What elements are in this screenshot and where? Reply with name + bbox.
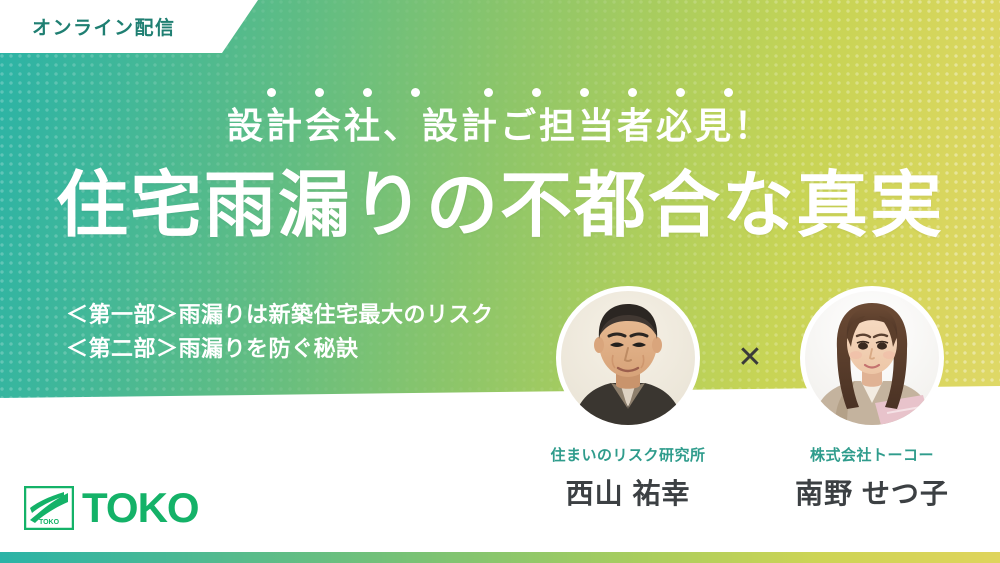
emphasis-dot [532,88,541,97]
portrait-woman-illustration [805,291,939,425]
avatar [800,286,944,430]
speaker-left-org: 住まいのリスク研究所 [550,444,705,465]
footer-gradient-bar [0,552,1000,563]
emphasis-dot [628,88,637,97]
speaker-left-name: 西山 祐幸 [566,472,691,512]
speaker-right-name: 南野 せつ子 [795,472,949,512]
toko-logo-mark-icon: TOKO [24,486,74,530]
session-line-1: ＜第一部＞雨漏りは新築住宅最大のリスク [66,298,494,332]
emphasis-dot [411,88,420,97]
online-broadcast-badge-label: オンライン配信 [0,13,176,40]
avatar-photo-woman [805,291,939,425]
portrait-man-illustration [561,291,695,425]
emphasis-dot [580,88,589,97]
speaker-group: 住まいのリスク研究所 西山 祐幸 ✕ [520,286,980,512]
avatar-photo-man [561,291,695,425]
emphasis-dot [724,88,733,97]
emphasis-dot [676,88,685,97]
kicker-text: 設計会社、設計ご担当者必見！ [0,104,1000,147]
session-line-2: ＜第二部＞雨漏りを防ぐ秘訣 [66,332,494,366]
speaker-left: 住まいのリスク研究所 西山 祐幸 [538,286,718,512]
speaker-right-org: 株式会社トーコー [810,444,934,465]
speaker-right: 株式会社トーコー 南野 せつ子 [782,286,962,512]
kicker-block: 設計会社、設計ご担当者必見！ [0,88,1000,147]
speaker-separator-icon: ✕ [718,286,782,430]
emphasis-dot [363,88,372,97]
avatar [556,286,700,430]
emphasis-dots [0,88,1000,102]
toko-logo: TOKO TOKO [24,486,199,530]
webinar-slide: オンライン配信 設計会社、設計ご担当者必見！ 住宅雨漏りの不都合な真実 ＜第一部… [0,0,1000,563]
toko-logo-wordmark: TOKO [82,487,199,529]
online-broadcast-badge: オンライン配信 [0,0,258,53]
session-list: ＜第一部＞雨漏りは新築住宅最大のリスク ＜第二部＞雨漏りを防ぐ秘訣 [66,298,494,366]
emphasis-dot [315,88,324,97]
emphasis-dot [267,88,276,97]
emphasis-dot [484,88,493,97]
page-title: 住宅雨漏りの不都合な真実 [0,165,1000,248]
toko-logo-mark-text: TOKO [39,519,60,526]
